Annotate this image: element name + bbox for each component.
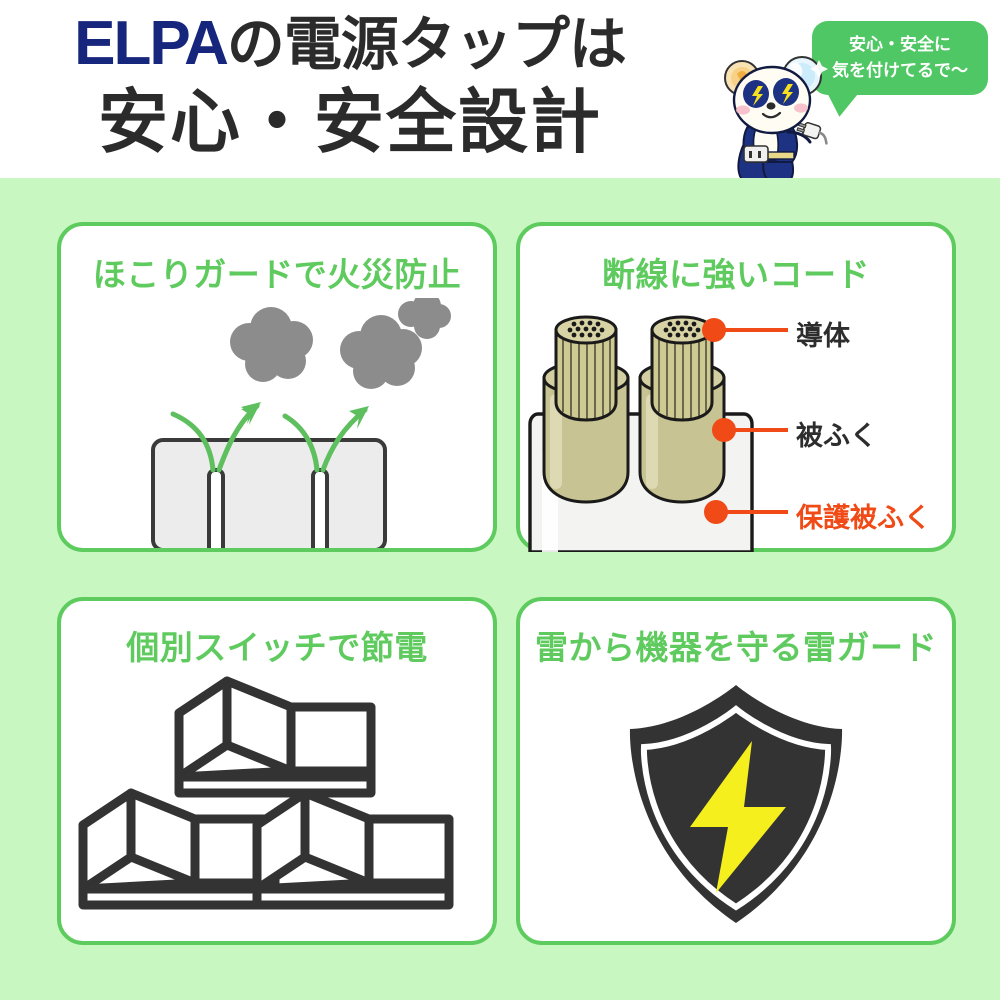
- page-title: ELPAの電源タップは 安心・安全設計: [0, 8, 700, 163]
- title-line-1: ELPAの電源タップは: [0, 8, 700, 81]
- card-strong-cord[interactable]: 断線に強いコード: [516, 222, 956, 552]
- individual-switch-illustration: [61, 673, 493, 948]
- card-dust-guard[interactable]: ほこりガードで火災防止: [57, 222, 497, 552]
- dust-guard-illustration: [61, 298, 493, 553]
- title-line-2: 安心・安全設計: [0, 81, 700, 163]
- leader-line-conductor: [702, 318, 788, 342]
- surge-guard-illustration: [520, 679, 952, 934]
- infographic-root: ELPAの電源タップは 安心・安全設計 安心・安全に 気を付けてるで〜: [0, 0, 1000, 1000]
- switch-icon-top: [179, 681, 371, 793]
- label-protective-sheath: 保護被ふく: [796, 496, 931, 535]
- mascot: [718, 48, 854, 188]
- card-individual-switch-title: 個別スイッチで節電: [61, 621, 493, 669]
- title-line-1-rest: の電源タップは: [227, 12, 626, 77]
- switch-icon-bottom-right: [257, 793, 449, 905]
- card-strong-cord-title: 断線に強いコード: [520, 248, 952, 296]
- switch-icon-bottom-left: [83, 793, 275, 905]
- elpa-brand-logo: ELPA: [74, 9, 227, 78]
- card-dust-guard-title: ほこりガードで火災防止: [61, 248, 493, 296]
- label-insulation: 被ふく: [796, 414, 877, 453]
- card-individual-switch[interactable]: 個別スイッチで節電: [57, 597, 497, 945]
- dust-cloud-1: [230, 307, 313, 382]
- card-surge-guard-title: 雷から機器を守る雷ガード: [520, 621, 952, 669]
- header: ELPAの電源タップは 安心・安全設計 安心・安全に 気を付けてるで〜: [0, 0, 1000, 178]
- label-conductor: 導体: [796, 314, 850, 353]
- card-surge-guard[interactable]: 雷から機器を守る雷ガード: [516, 597, 956, 945]
